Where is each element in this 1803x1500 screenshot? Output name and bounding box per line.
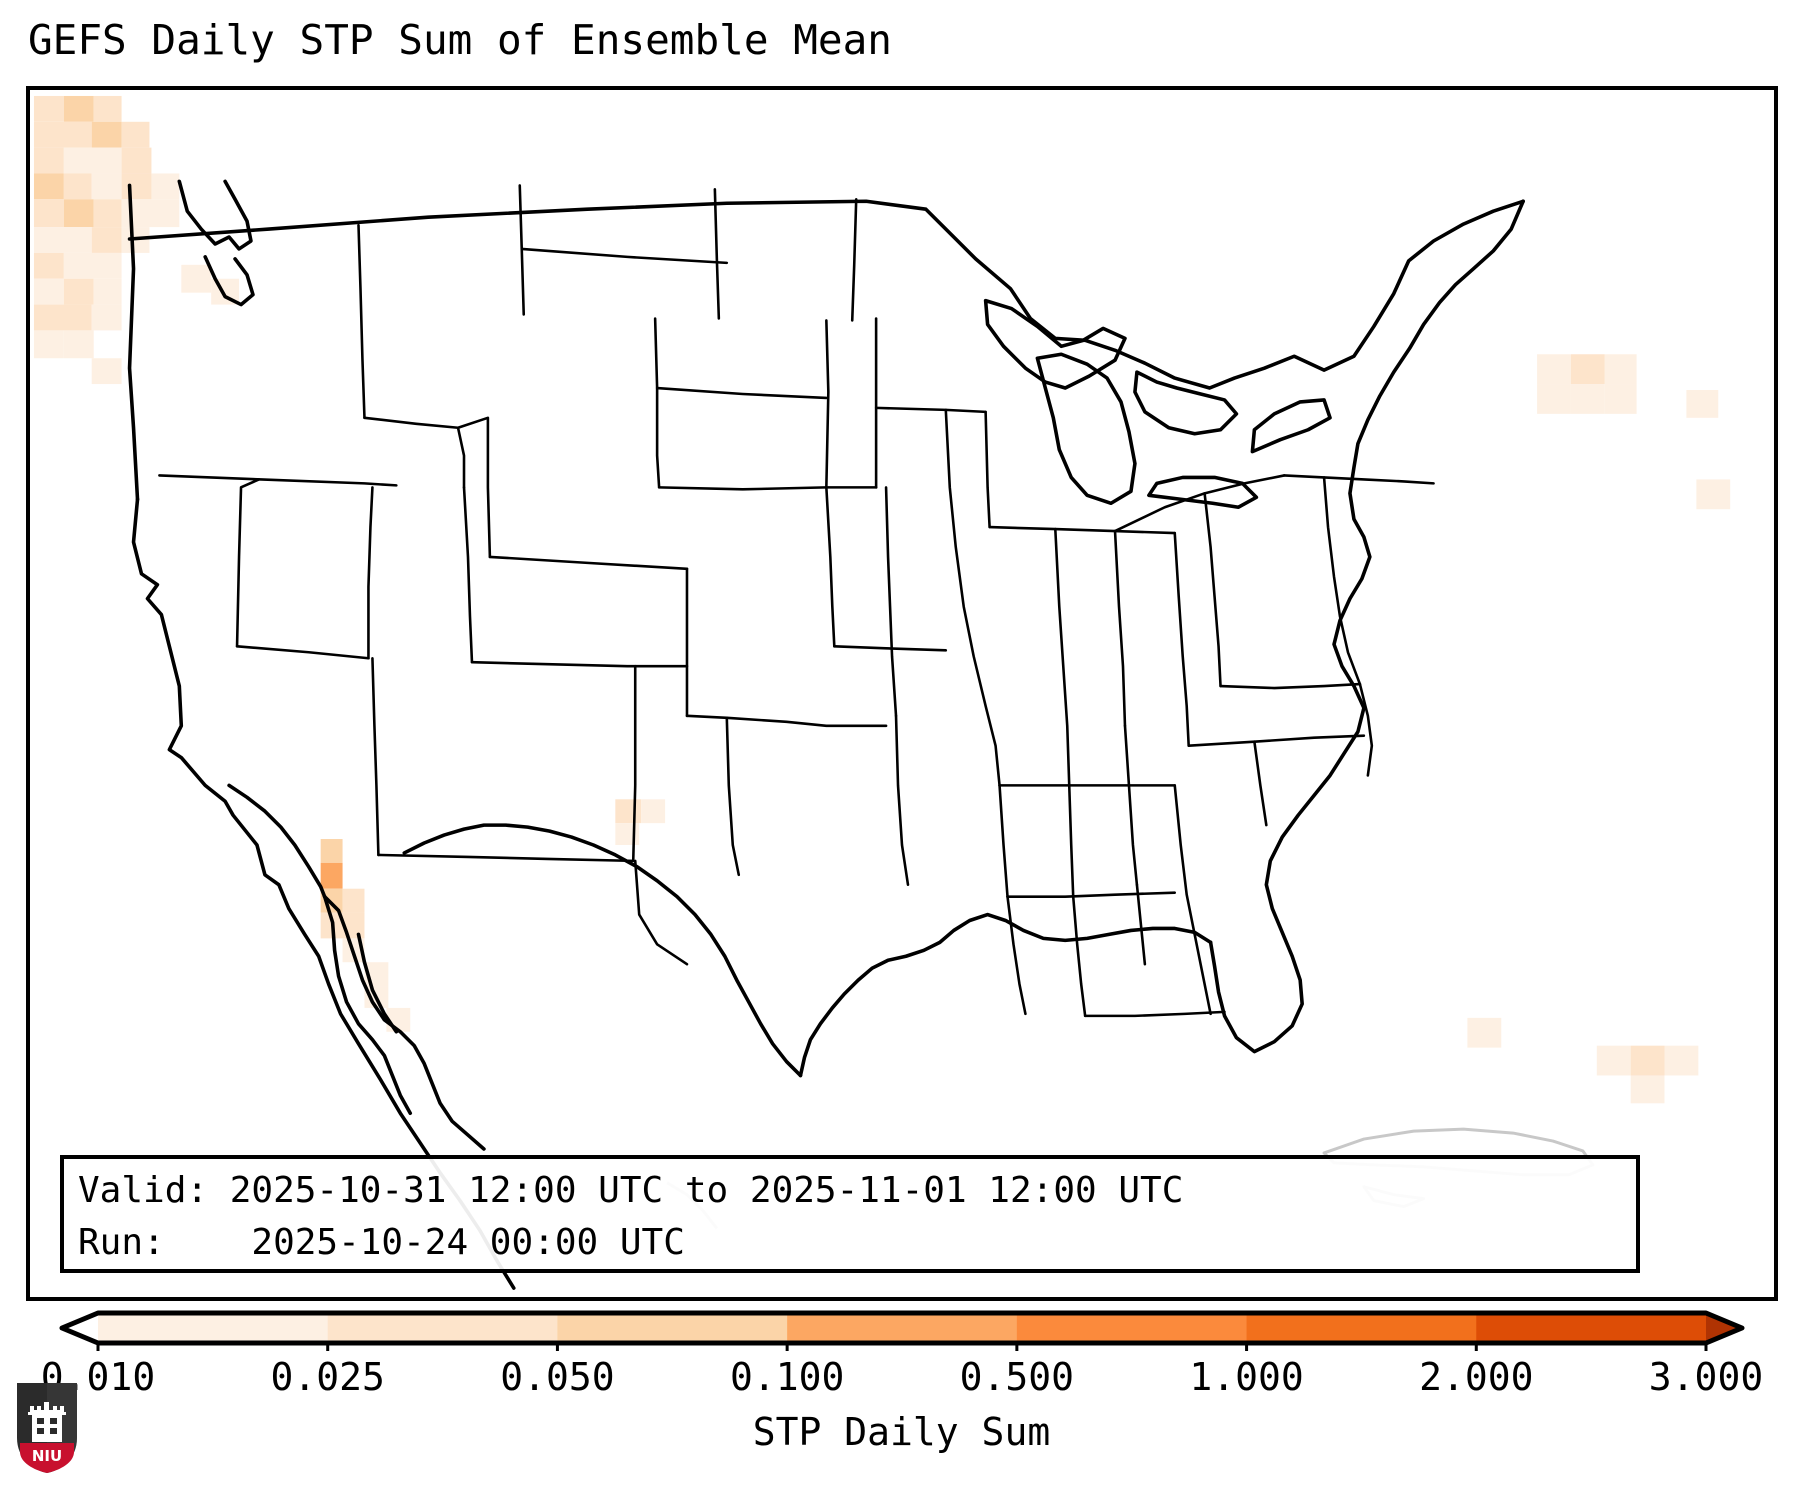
data-cell	[64, 330, 94, 358]
data-cell	[122, 148, 152, 174]
data-cell	[1467, 1018, 1501, 1048]
data-cell	[343, 889, 365, 913]
data-cell	[34, 305, 92, 331]
data-cell	[34, 148, 64, 174]
figure-root: GEFS Daily STP Sum of Ensemble Mean	[0, 0, 1803, 1500]
data-cell	[1631, 1046, 1665, 1076]
colorbar-segment	[557, 1313, 787, 1343]
colorbar-segment	[98, 1313, 328, 1343]
data-cell	[1605, 384, 1637, 414]
data-cell	[94, 96, 122, 122]
data-cell	[94, 199, 122, 227]
colorbar-tick-label: 3.000	[1649, 1355, 1763, 1399]
data-cell	[34, 122, 92, 148]
data-cell	[92, 358, 122, 384]
data-cell	[92, 122, 122, 148]
colorbar-segment	[1247, 1313, 1477, 1343]
info-text-box: Valid: 2025-10-31 12:00 UTC to 2025-11-0…	[60, 1155, 1640, 1273]
data-cell	[321, 863, 343, 889]
data-cell	[34, 199, 64, 227]
data-cell	[34, 227, 92, 253]
colorbar-segment	[1476, 1313, 1706, 1343]
data-cell	[1571, 384, 1605, 414]
data-cell	[92, 173, 122, 199]
data-cell	[1597, 1046, 1631, 1076]
colorbar-axis-label: STP Daily Sum	[0, 1410, 1803, 1454]
data-cell	[1631, 1075, 1665, 1103]
map-canvas	[30, 90, 1774, 1297]
data-cell	[92, 305, 122, 331]
colorbar-tick-label: 0.025	[271, 1355, 385, 1399]
colorbar-tick-label: 0.100	[730, 1355, 844, 1399]
data-cell	[122, 173, 152, 199]
colorbar-tick-label: 1.000	[1189, 1355, 1303, 1399]
colorbar-segment	[328, 1313, 558, 1343]
colorbar-swatches	[26, 1307, 1778, 1351]
data-cell	[1696, 479, 1730, 509]
valid-time-line: Valid: 2025-10-31 12:00 UTC to 2025-11-0…	[78, 1165, 1622, 1217]
data-cell	[64, 148, 122, 174]
data-cell	[64, 199, 94, 227]
data-cell	[94, 279, 122, 305]
data-cell	[641, 799, 665, 823]
map-panel[interactable]	[26, 86, 1778, 1301]
data-cell	[1605, 354, 1637, 384]
colorbar-tick-label: 0.050	[500, 1355, 614, 1399]
data-cell	[151, 173, 179, 199]
data-cell	[34, 279, 64, 305]
data-cell	[1665, 1046, 1699, 1076]
niu-logo: NIU	[14, 1380, 80, 1476]
data-cell	[615, 799, 641, 823]
niu-logo-text: NIU	[32, 1447, 62, 1465]
colorbar[interactable]	[26, 1307, 1778, 1351]
data-cell	[1537, 384, 1571, 414]
data-cell	[92, 227, 122, 253]
data-cell	[64, 173, 92, 199]
data-cell	[34, 173, 64, 199]
colorbar-tick-label: 0.500	[960, 1355, 1074, 1399]
data-cell	[181, 265, 211, 293]
data-cell	[34, 253, 64, 279]
data-cell	[122, 122, 150, 148]
data-cell	[1571, 354, 1605, 384]
data-cell	[1537, 354, 1571, 384]
data-cell	[34, 330, 64, 358]
run-time-line: Run: 2025-10-24 00:00 UTC	[78, 1217, 1622, 1269]
data-cell	[1686, 390, 1718, 418]
data-cell	[34, 96, 64, 122]
data-cell	[64, 253, 122, 279]
colorbar-tick-labels: 0.0100.0250.0500.1000.5001.0002.0003.000	[26, 1355, 1778, 1403]
colorbar-segment	[1017, 1313, 1247, 1343]
colorbar-segment	[787, 1313, 1017, 1343]
data-cell	[615, 823, 639, 845]
colorbar-tick-label: 2.000	[1419, 1355, 1533, 1399]
data-cell	[64, 96, 94, 122]
page-title: GEFS Daily STP Sum of Ensemble Mean	[28, 16, 892, 64]
data-cell	[64, 279, 94, 305]
data-cell	[321, 839, 343, 863]
